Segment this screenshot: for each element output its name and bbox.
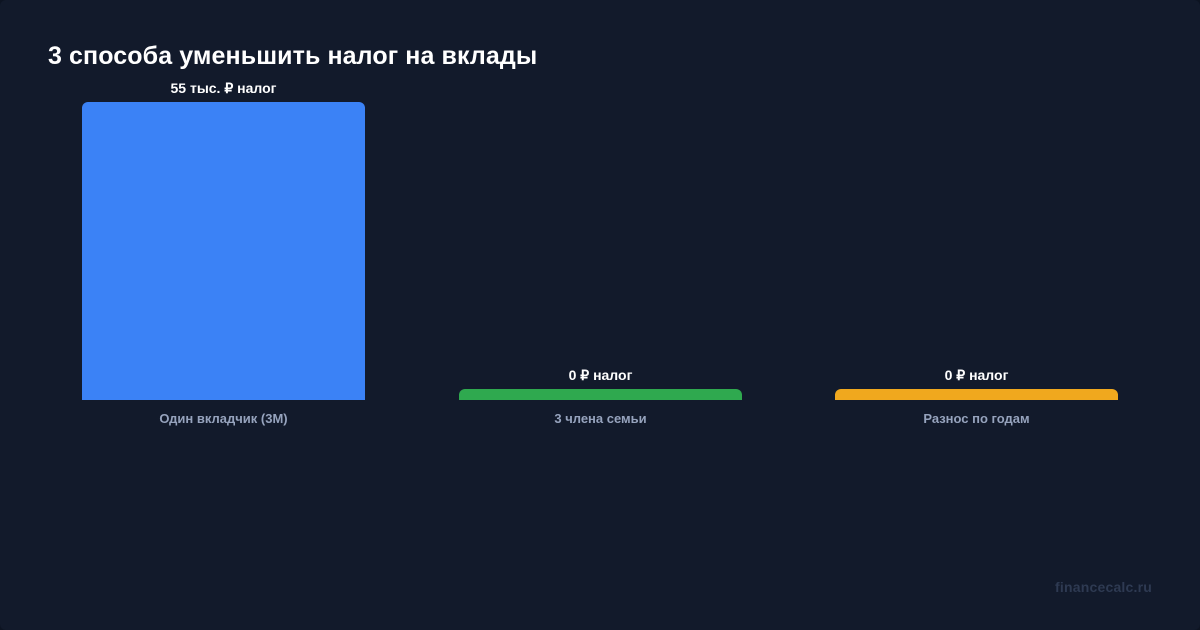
plot-area: 55 тыс. ₽ налог Один вкладчик (3М) 0 ₽ н… bbox=[0, 0, 1200, 630]
bar-group-1: 0 ₽ налог 3 члена семьи bbox=[459, 367, 742, 400]
bar-category-label-2: Разнос по годам bbox=[923, 411, 1029, 426]
bar-value-label-0: 55 тыс. ₽ налог bbox=[171, 80, 277, 97]
bar-rect-1 bbox=[459, 389, 742, 400]
bar-rect-2 bbox=[835, 389, 1118, 400]
bar-value-label-1: 0 ₽ налог bbox=[569, 367, 633, 384]
bar-category-label-1: 3 члена семьи bbox=[554, 411, 646, 426]
bar-value-label-2: 0 ₽ налог bbox=[945, 367, 1009, 384]
bar-group-2: 0 ₽ налог Разнос по годам bbox=[835, 367, 1118, 400]
bar-category-label-0: Один вкладчик (3М) bbox=[159, 411, 287, 426]
chart-canvas: 3 способа уменьшить налог на вклады 55 т… bbox=[0, 0, 1200, 630]
bar-rect-0 bbox=[82, 102, 365, 400]
watermark: financecalc.ru bbox=[1055, 579, 1152, 595]
bar-group-0: 55 тыс. ₽ налог Один вкладчик (3М) bbox=[82, 80, 365, 400]
